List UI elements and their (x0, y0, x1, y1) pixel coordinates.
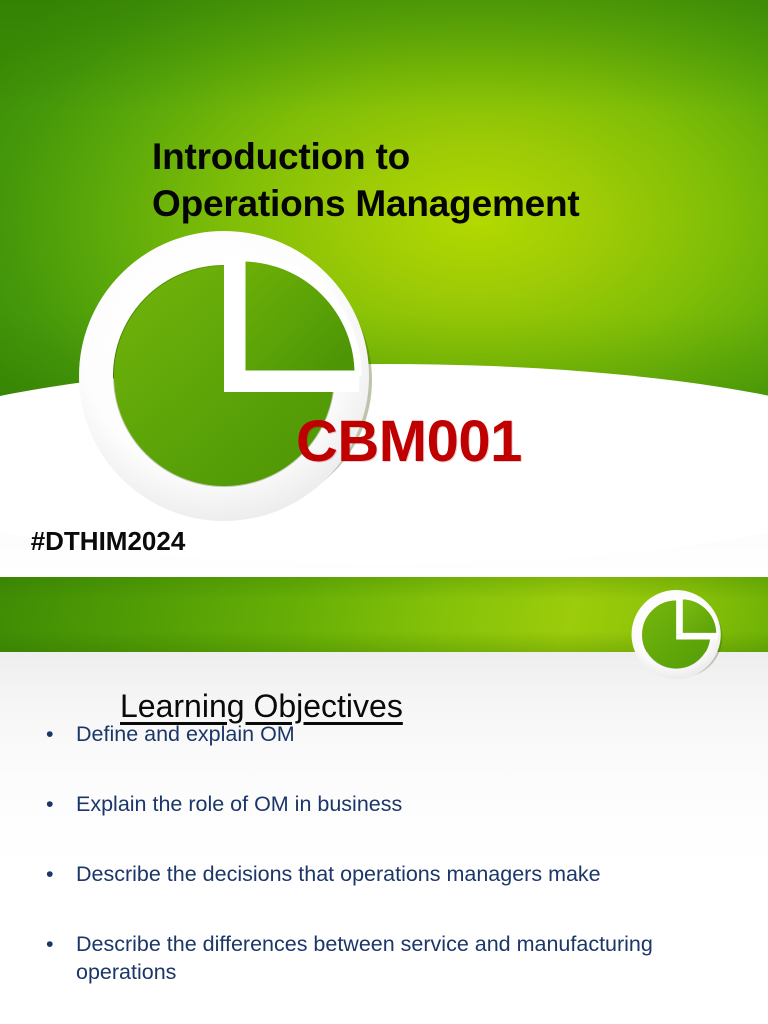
hashtag-label: #DTHIM2024 (20, 526, 196, 556)
logo-notch-horizontal (224, 376, 359, 392)
list-item: • Describe the differences between servi… (34, 930, 724, 986)
course-code: CBM001 (296, 408, 522, 475)
slide-document: Introduction to Operations Management (0, 0, 768, 1024)
list-item-text: Describe the differences between service… (76, 932, 653, 984)
pie-chart-logo-icon-small (630, 586, 726, 682)
bullet-marker-icon: • (46, 720, 54, 748)
bullet-marker-icon: • (46, 860, 54, 888)
page-title: Introduction to Operations Management (152, 133, 752, 227)
page-title-line-1: Introduction to (152, 133, 752, 180)
bullet-marker-icon: • (46, 790, 54, 818)
page-title-line-2: Operations Management (152, 180, 752, 227)
list-item: • Define and explain OM (34, 720, 724, 748)
list-item: • Explain the role of OM in business (34, 790, 724, 818)
bullet-marker-icon: • (46, 930, 54, 958)
logo-notch-horizontal-small (676, 635, 718, 640)
list-item-text: Explain the role of OM in business (76, 792, 402, 816)
list-item-text: Define and explain OM (76, 722, 295, 746)
list-item: • Describe the decisions that operations… (34, 860, 724, 888)
logo-notch-vertical-small (676, 597, 681, 635)
logo-notch-vertical (224, 254, 240, 376)
slide-title-page: Introduction to Operations Management (0, 0, 768, 577)
pie-chart-logo-icon (74, 218, 386, 530)
list-item-text: Describe the decisions that operations m… (76, 862, 601, 886)
objectives-list: • Define and explain OM • Explain the ro… (34, 720, 724, 1024)
section-heading: Learning Objectives (120, 688, 403, 725)
